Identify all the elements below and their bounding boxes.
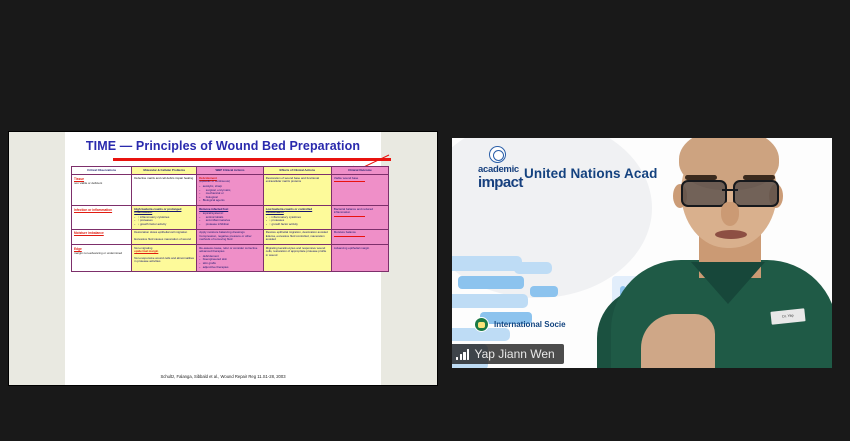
cell-problems-infection: High bacteria counts or prolonged inflam… (132, 206, 197, 230)
column-header-critical-observations: Critical Observations (72, 167, 132, 175)
problems-text: Desiccation slows epithelial cell migrat… (134, 231, 194, 235)
background-bar (530, 286, 558, 297)
effects-text: Restoration of wound base and functional… (266, 177, 329, 184)
column-header-wbp-clinical-actions: WBP Clinical Actions (197, 167, 264, 175)
row-sub-tissue: non viable or deficient (74, 182, 129, 186)
mouth-shape (715, 230, 747, 239)
effects-text: Restore epithelial migration, desiccatio… (266, 231, 329, 242)
row-label-moisture: Moisture imbalance (74, 231, 104, 235)
cell-problems-edge: Non-migrating epidermal margin Non-respo… (132, 245, 197, 272)
lens-left (681, 180, 727, 207)
arm-shape (641, 314, 715, 368)
background-bar (458, 276, 524, 289)
cell-actions-tissue: Debridement (episodic or continuous) aut… (197, 175, 264, 206)
outcome-text: Moisture balance (334, 231, 386, 235)
cell-outcome-edge: Advancing epithelial margin (331, 245, 388, 272)
problems-title: High bacteria counts or prolonged inflam… (134, 208, 194, 215)
column-header-clinical-outcome: Clinical Outcome (331, 167, 388, 175)
actions-list: debridement bioengineered skin skin graf… (199, 255, 261, 270)
un-emblem-icon (489, 146, 506, 163)
eyeglasses-icon (681, 180, 779, 203)
column-header-effects-of-clinical-actions: Effects of Clinical Actions (263, 167, 331, 175)
table-row: Edge margin non-advancing or undermined … (72, 245, 389, 272)
background-bar (452, 256, 522, 271)
speaker-video-tile[interactable]: academic impact United Nations Acad (452, 138, 832, 368)
problems-text: Defective matrix and cell debris impair … (134, 177, 194, 181)
slide-citation: Schultz, Falanga, Sibbald et al., Wound … (65, 374, 381, 379)
cell-observation-infection: Infection or inflammation (72, 206, 132, 230)
society-logo-icon (474, 317, 489, 332)
lens-right (733, 180, 779, 207)
cell-observation-moisture: Moisture imbalance (72, 229, 132, 244)
background-bar (452, 294, 528, 308)
cell-effects-edge: Migrating keratinocytes and responsive w… (263, 245, 331, 272)
society-label: International Socie (494, 320, 566, 329)
cell-actions-edge: Re-assess cause, refer or consider corre… (197, 245, 264, 272)
effects-text: Migrating keratinocytes and responsive w… (266, 247, 329, 258)
table-row: Moisture imbalance Desiccation slows epi… (72, 229, 389, 244)
outcome-text: Viable wound base (334, 177, 386, 181)
signal-bars-icon (456, 349, 469, 360)
academic-impact-logo: academic impact (478, 146, 514, 192)
cell-effects-moisture: Restore epithelial migration, desiccatio… (263, 229, 331, 244)
cell-outcome-infection: Bacterial balance and reduced inflammati… (331, 206, 388, 230)
actions-list: autolytic, sharp surgical, enzymatic, me… (199, 185, 261, 203)
cell-actions-moisture: Apply moisture balancing dressings Compr… (197, 229, 264, 244)
cell-observation-tissue: Tissue non viable or deficient (72, 175, 132, 206)
cell-effects-tissue: Restoration of wound base and functional… (263, 175, 331, 206)
list-item: protease inhibition (203, 223, 261, 227)
cell-problems-moisture: Desiccation slows epithelial cell migrat… (132, 229, 197, 244)
list-item: Biological agents (203, 199, 261, 203)
nose-shape (721, 202, 739, 226)
highlight-underline (334, 181, 365, 182)
background-bar (514, 262, 552, 274)
table-row: Infection or inflammation High bacteria … (72, 206, 389, 230)
column-header-molecular-cellular-problems: Molecular & Cellular Problems (132, 167, 197, 175)
list-item: ↓ growth factor activity (138, 223, 194, 227)
effects-list: ↓ inflammatory cytokines ↓ proteases ↑ g… (266, 216, 329, 227)
society-branding: International Socie (474, 317, 566, 332)
actions-text: Re-assess cause, refer or consider corre… (199, 247, 261, 254)
problems-text-2: Non-responsive wound cells and abnormali… (134, 257, 194, 264)
list-item: ↑ growth factor activity (269, 223, 329, 227)
outcome-text: Bacterial balance and reduced inflammati… (334, 208, 386, 215)
actions-text: Apply moisture balancing dressings Compr… (199, 231, 261, 242)
highlight-underline (334, 216, 365, 217)
row-label-infection: Infection or inflammation (74, 208, 112, 212)
title-underline-rule (113, 158, 391, 161)
participant-name: Yap Jiann Wen (474, 347, 554, 361)
table-header-row: Critical Observations Molecular & Cellul… (72, 167, 389, 175)
row-sub-edge: margin non-advancing or undermined (74, 252, 129, 256)
cell-problems-tissue: Defective matrix and cell debris impair … (132, 175, 197, 206)
cell-outcome-moisture: Moisture balance (331, 229, 388, 244)
cell-actions-infection: Remove infected foci topical/systemic: a… (197, 206, 264, 230)
shared-screen-slide[interactable]: TIME — Principles of Wound Bed Preparati… (8, 131, 438, 386)
highlight-underline (334, 236, 365, 237)
logo-line-impact: impact (478, 174, 523, 191)
actions-list: topical/systemic: antimicrobials anti-in… (199, 212, 261, 227)
effects-title: Low bacteria counts or controlled inflam… (266, 208, 329, 215)
problems-list: ↑ inflammatory cytokines ↑ proteases ↓ g… (134, 216, 194, 227)
participant-name-tag: Yap Jiann Wen (452, 344, 564, 364)
slide-title: TIME — Principles of Wound Bed Preparati… (65, 139, 381, 153)
cell-effects-infection: Low bacteria counts or controlled inflam… (263, 206, 331, 230)
cell-observation-edge: Edge margin non-advancing or undermined (72, 245, 132, 272)
outcome-text: Advancing epithelial margin (334, 247, 386, 251)
speaker-figure: Dr. Yap (603, 138, 832, 368)
meeting-stage: TIME — Principles of Wound Bed Preparati… (0, 0, 850, 441)
list-item: adjunctive therapies (203, 266, 261, 270)
slide-canvas: TIME — Principles of Wound Bed Preparati… (65, 132, 381, 385)
table-row: Tissue non viable or deficient Defective… (72, 175, 389, 206)
cell-outcome-tissue: Viable wound base (331, 175, 388, 206)
time-principles-table: Critical Observations Molecular & Cellul… (71, 166, 389, 272)
problems-highlight: epidermal margin (134, 250, 194, 254)
problems-text-2: Excessive fluid causes maceration of wou… (134, 238, 194, 242)
row-label-edge: Edge (74, 247, 82, 251)
